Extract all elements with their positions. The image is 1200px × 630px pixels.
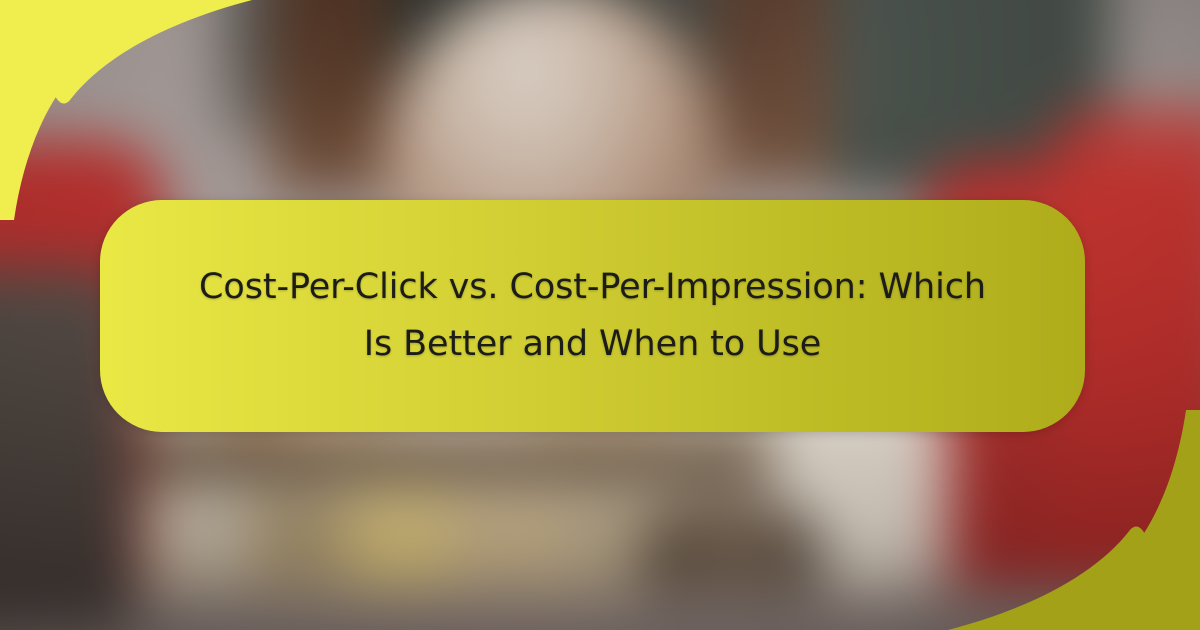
swoosh-bottom-right-icon [930,410,1200,630]
title-card: Cost-Per-Click vs. Cost-Per-Impression: … [100,200,1085,432]
page-title: Cost-Per-Click vs. Cost-Per-Impression: … [164,259,1021,372]
swoosh-top-left-icon [0,0,270,220]
og-image-canvas: Cost-Per-Click vs. Cost-Per-Impression: … [0,0,1200,630]
